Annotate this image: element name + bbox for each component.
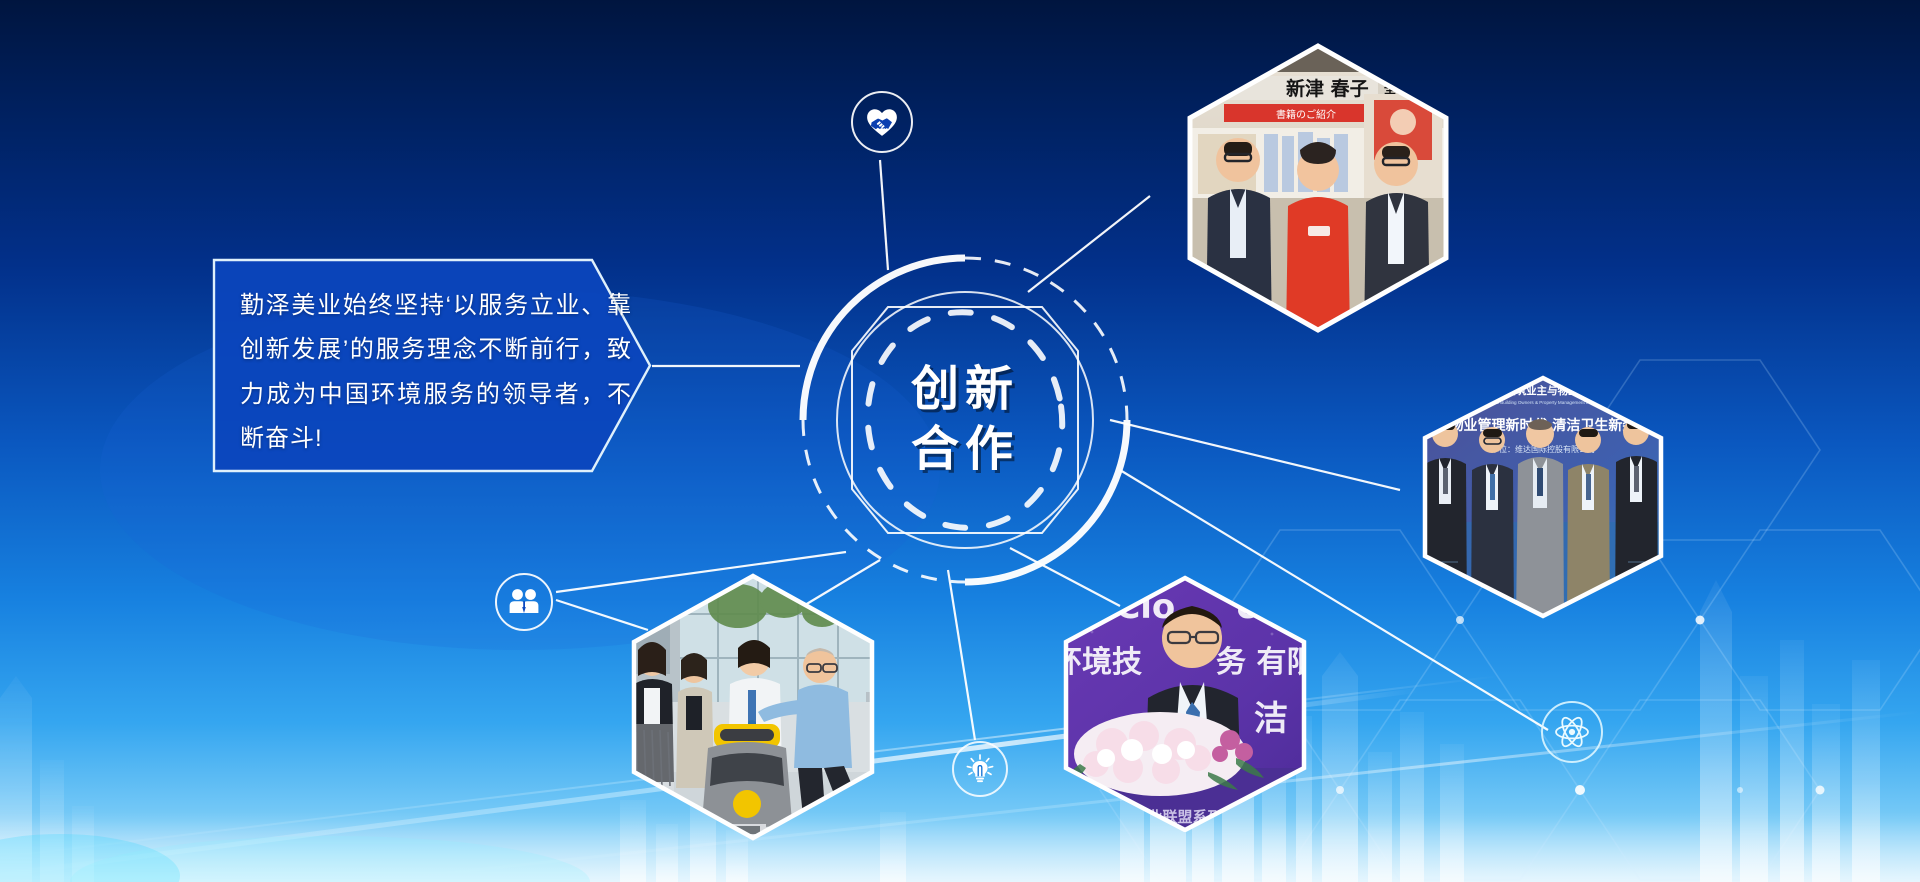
- photo-demo-machine-graphic: [608, 572, 898, 842]
- central-hub: 创新 合作: [790, 245, 1140, 595]
- node-label-handshake: 合作: [0, 0, 1, 1]
- innovation-cooperation-banner: 勤泽美业始终坚持‘以服务立业、靠创新发展’的服务理念不断前行，致力成为中国环境服…: [0, 0, 1920, 882]
- photo-speaker-podium-graphic: ce-Clo &Q& 环境技 务 有限 洁: [1040, 572, 1330, 832]
- node-label-atom: 科技: [0, 0, 1, 1]
- philosophy-text: 勤泽美业始终坚持‘以服务立业、靠创新发展’的服务理念不断前行，致力成为中国环境服…: [240, 284, 632, 462]
- atom-science-icon: [1553, 713, 1591, 751]
- hub-title-line2: 合作: [911, 425, 1019, 475]
- node-handshake[interactable]: [851, 91, 913, 153]
- banner-title-full: 创新合作: [0, 0, 1, 1]
- two-people-icon: [508, 587, 540, 617]
- svg-text:2019 Shanghai International Bu: 2019 Shanghai International Building Own…: [1441, 400, 1645, 405]
- hub-title-line1: 创新: [911, 365, 1019, 415]
- node-label-people: 团队: [0, 0, 1, 1]
- node-lightbulb[interactable]: [952, 741, 1008, 797]
- svg-text:2019上海国际建筑业主与物业管理产业创新发: 2019上海国际建筑业主与物业管理产业创新发: [1434, 384, 1653, 397]
- node-atom[interactable]: [1541, 701, 1603, 763]
- photo-caption-2: 环境技术服务有限: [0, 0, 1, 1]
- svg-text:服务业联盟系列活动: 服务业联盟系列活动: [1117, 808, 1252, 826]
- company-philosophy-callout: 勤泽美业始终坚持‘以服务立业、靠创新发展’的服务理念不断前行，致力成为中国环境服…: [212, 258, 652, 473]
- photo-demo-machine[interactable]: [608, 572, 898, 842]
- svg-text:&Q&: &Q&: [1236, 587, 1324, 627]
- svg-text:新津 春子: 新津 春子: [1286, 77, 1369, 100]
- photo-award-store-graphic: 新津 春子 全仕事 書籍のご紹介: [1168, 38, 1468, 338]
- photo-award-store[interactable]: 新津 春子 全仕事 書籍のご紹介: [1168, 38, 1468, 338]
- svg-text:务 有限: 务 有限: [1216, 645, 1316, 680]
- photo-conference-group[interactable]: 2019上海国际建筑业主与物业管理产业创新发 2019 Shanghai Int…: [1398, 372, 1688, 622]
- photo-caption-1: 2019上海国际建筑业主与物业管理产业创新发展大会: [0, 0, 1, 1]
- node-people[interactable]: [495, 573, 553, 631]
- svg-text:洁: 洁: [1254, 699, 1288, 739]
- photo-caption-0: 新津 春子 全仕事: [0, 0, 1, 1]
- photo-speaker-podium[interactable]: ce-Clo &Q& 环境技 务 有限 洁: [1040, 572, 1330, 832]
- photo-conference-group-graphic: 2019上海国际建筑业主与物业管理产业创新发 2019 Shanghai Int…: [1398, 372, 1688, 622]
- city-skyline-left: [0, 676, 94, 882]
- hub-title: 创新 合作: [790, 245, 1140, 595]
- node-label-bulb: 创意: [0, 0, 1, 1]
- lightbulb-idea-icon: [964, 753, 996, 785]
- handshake-heart-icon: [865, 105, 899, 139]
- svg-text:書籍のご紹介: 書籍のご紹介: [1276, 108, 1336, 121]
